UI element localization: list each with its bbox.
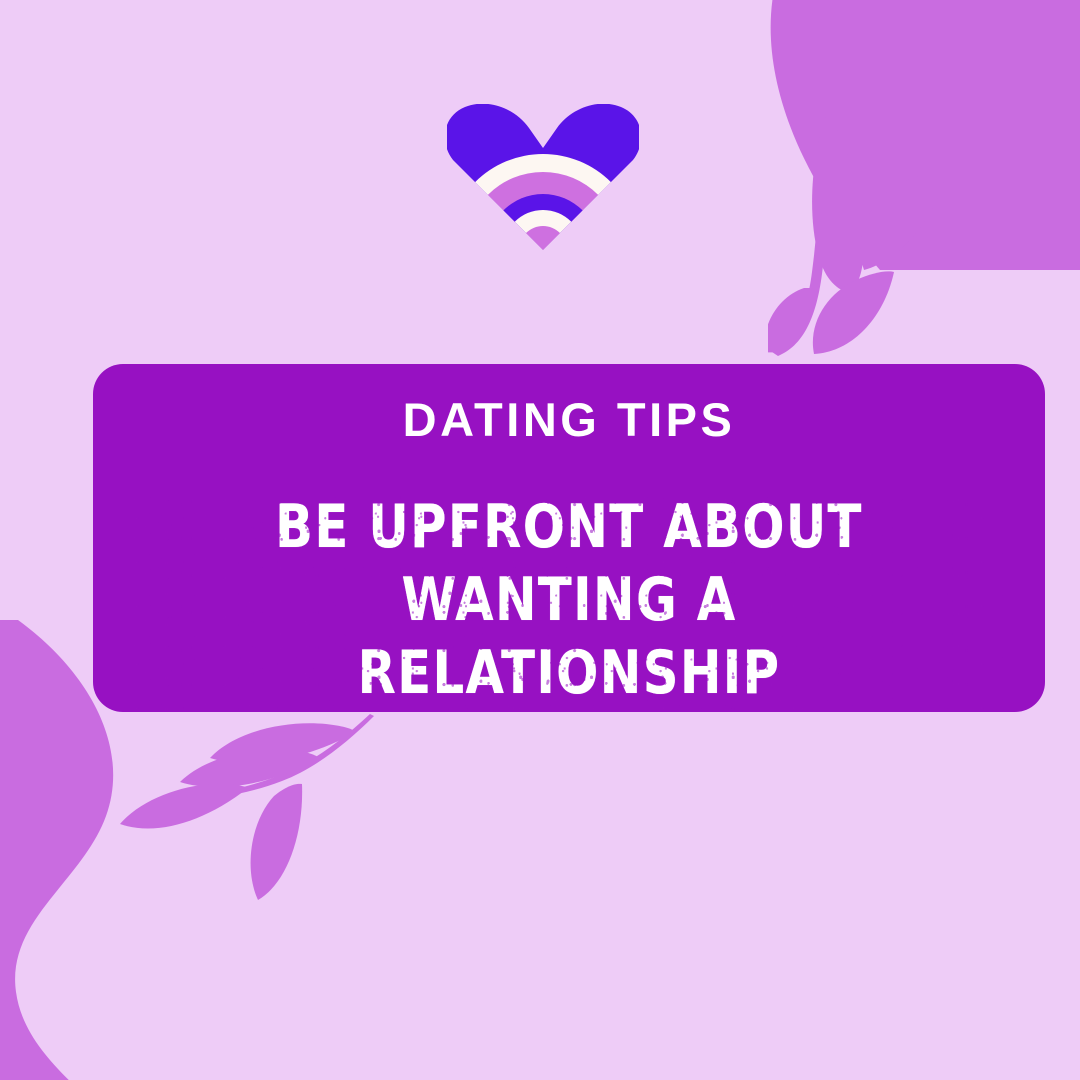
dating-tips-poster: DATING TIPS BE UPFRONT ABOUT WANTING A R… (0, 0, 1080, 1080)
card-headline: BE UPFRONT ABOUT WANTING A RELATIONSHIP (93, 491, 1045, 711)
headline-line-1: BE UPFRONT ABOUT WANTING A (131, 491, 1007, 637)
leaf-sprig-top-right (768, 104, 1068, 404)
headline-line-2: RELATIONSHIP (131, 637, 1007, 710)
striped-heart-logo (447, 104, 639, 250)
leaf-sprig-bottom-left (98, 712, 398, 962)
tip-card: DATING TIPS BE UPFRONT ABOUT WANTING A R… (93, 364, 1045, 712)
blob-top-right (740, 0, 1080, 270)
card-eyebrow-label: DATING TIPS (403, 396, 736, 443)
